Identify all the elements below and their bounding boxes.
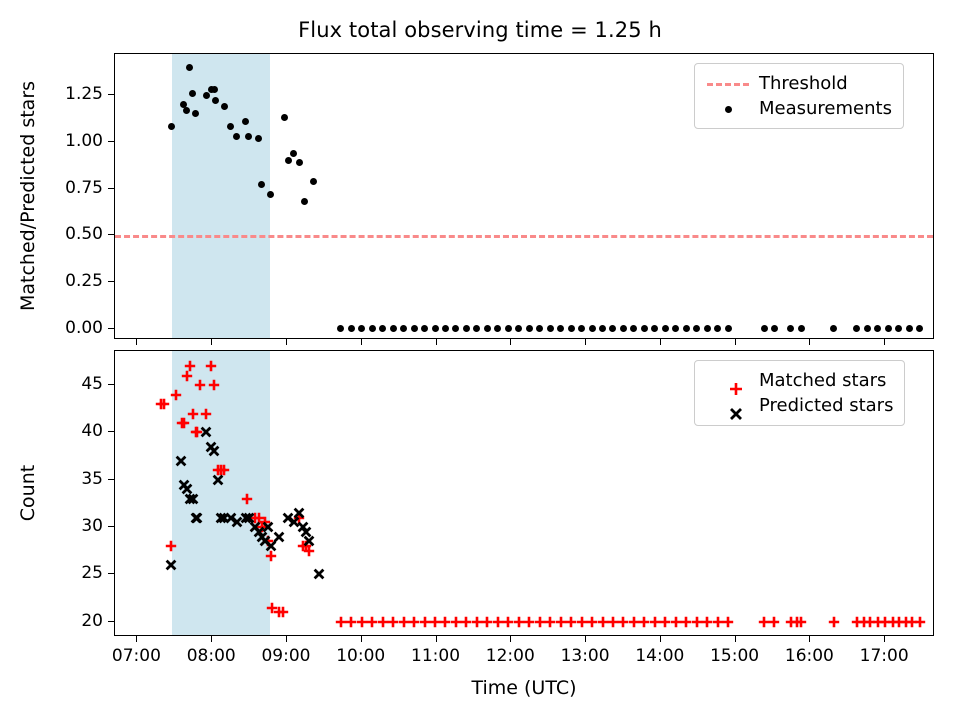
legend-item-matched-stars[interactable]: Matched stars: [704, 368, 893, 393]
x-tick-mark: [211, 636, 212, 642]
data-point-measurement: [379, 325, 386, 332]
y-tick-label: 1.25: [65, 84, 103, 104]
x-tick-mark: [286, 339, 287, 345]
data-point-measurement: [358, 325, 365, 332]
chart-title: Flux total observing time = 1.25 h: [0, 18, 960, 42]
x-tick-mark: [436, 636, 437, 642]
y-tick-label: 35: [81, 469, 103, 489]
x-tick-mark: [510, 339, 511, 345]
data-point-measurement: [211, 86, 218, 93]
data-point-measurement: [589, 325, 596, 332]
data-point-measurement: [662, 325, 669, 332]
data-point-measurement: [290, 150, 297, 157]
data-point-measurement: [641, 325, 648, 332]
observing-window-shading: [172, 54, 269, 338]
x-tick-mark: [286, 636, 287, 642]
y-tick-label: 25: [81, 563, 103, 583]
data-point-measurement: [505, 325, 512, 332]
x-tick-mark: [809, 636, 810, 642]
data-point-measurement: [301, 198, 308, 205]
x-tick-label: 07:00: [112, 646, 161, 666]
data-point-measurement: [526, 325, 533, 332]
y-tick-label: 0.75: [65, 178, 103, 198]
data-point-measurement: [494, 325, 501, 332]
y-tick-label: 20: [81, 611, 103, 631]
data-point-measurement: [186, 64, 193, 71]
data-point-measurement: [348, 325, 355, 332]
x-tick-label: 17:00: [860, 646, 909, 666]
plus-marker-icon: [704, 370, 752, 392]
x-tick-mark: [436, 339, 437, 345]
dashed-line-icon: [704, 73, 752, 95]
data-point-measurement: [620, 325, 627, 332]
data-point-measurement: [255, 135, 262, 142]
data-point-measurement: [411, 325, 418, 332]
data-point-measurement: [651, 325, 658, 332]
x-tick-mark: [809, 339, 810, 345]
data-point-measurement: [557, 325, 564, 332]
data-point-measurement: [515, 325, 522, 332]
legend-count[interactable]: Matched stars Predicted stars: [694, 360, 905, 426]
data-point-measurement: [672, 325, 679, 332]
data-point-measurement: [714, 325, 721, 332]
data-point-measurement: [463, 325, 470, 332]
y-tick-label: 30: [81, 516, 103, 536]
y-tick-label: 0.25: [65, 271, 103, 291]
y-axis-label-bottom: Count: [17, 465, 39, 521]
y-tick-label: 40: [81, 421, 103, 441]
x-tick-label: 15:00: [710, 646, 759, 666]
cross-marker-icon: [704, 395, 752, 417]
figure-canvas: Flux total observing time = 1.25 h Match…: [0, 0, 960, 720]
data-point-measurement: [787, 325, 794, 332]
x-tick-mark: [361, 339, 362, 345]
data-point-measurement: [189, 90, 196, 97]
legend-item-predicted-stars[interactable]: Predicted stars: [704, 393, 893, 418]
data-point-measurement: [798, 325, 805, 332]
x-tick-mark: [585, 339, 586, 345]
data-point-measurement: [390, 325, 397, 332]
data-point-measurement: [337, 325, 344, 332]
x-axis-label: Time (UTC): [114, 677, 934, 699]
data-point-measurement: [630, 325, 637, 332]
x-tick-mark: [585, 636, 586, 642]
data-point-measurement: [599, 325, 606, 332]
legend-label-predicted-stars: Predicted stars: [752, 395, 893, 416]
x-tick-mark: [361, 636, 362, 642]
data-point-measurement: [536, 325, 543, 332]
data-point-measurement: [906, 325, 913, 332]
x-tick-label: 12:00: [486, 646, 535, 666]
x-tick-mark: [660, 636, 661, 642]
data-point-measurement: [725, 325, 732, 332]
legend-item-measurements[interactable]: Measurements: [704, 96, 892, 121]
data-point-measurement: [421, 325, 428, 332]
data-point-measurement: [683, 325, 690, 332]
y-tick-label: 0.50: [65, 224, 103, 244]
dot-marker-icon: [704, 98, 752, 120]
x-tick-mark: [136, 636, 137, 642]
data-point-measurement: [704, 325, 711, 332]
legend-ratio[interactable]: Threshold Measurements: [694, 63, 904, 129]
data-point-measurement: [693, 325, 700, 332]
x-tick-label: 08:00: [187, 646, 236, 666]
data-point-measurement: [895, 325, 902, 332]
data-point-measurement: [442, 325, 449, 332]
data-point-measurement: [285, 157, 292, 164]
legend-item-threshold[interactable]: Threshold: [704, 71, 892, 96]
data-point-measurement: [568, 325, 575, 332]
data-point-measurement: [830, 325, 837, 332]
x-tick-mark: [884, 339, 885, 345]
legend-label-matched-stars: Matched stars: [752, 370, 886, 391]
y-tick-label: 0.00: [65, 318, 103, 338]
data-point-measurement: [432, 325, 439, 332]
legend-label-threshold: Threshold: [752, 73, 848, 94]
data-point-measurement: [267, 191, 274, 198]
data-point-measurement: [864, 325, 871, 332]
y-tick-label: 45: [81, 374, 103, 394]
data-point-measurement: [547, 325, 554, 332]
x-tick-label: 11:00: [411, 646, 460, 666]
data-point-measurement: [281, 114, 288, 121]
data-point-measurement: [183, 107, 190, 114]
data-point-measurement: [310, 178, 317, 185]
x-tick-label: 09:00: [261, 646, 310, 666]
data-point-measurement: [369, 325, 376, 332]
data-point-measurement: [853, 325, 860, 332]
x-tick-mark: [510, 636, 511, 642]
data-point-measurement: [221, 103, 228, 110]
data-point-measurement: [578, 325, 585, 332]
x-tick-label: 10:00: [336, 646, 385, 666]
data-point-measurement: [885, 325, 892, 332]
legend-label-measurements: Measurements: [752, 98, 892, 119]
data-point-measurement: [761, 325, 768, 332]
data-point-measurement: [296, 159, 303, 166]
data-point-measurement: [400, 325, 407, 332]
x-tick-label: 16:00: [785, 646, 834, 666]
data-point-measurement: [916, 325, 923, 332]
data-point-measurement: [484, 325, 491, 332]
x-tick-mark: [136, 339, 137, 345]
y-axis-label-top: Matched/Predicted stars: [17, 81, 39, 311]
data-point-measurement: [452, 325, 459, 332]
data-point-measurement: [203, 92, 210, 99]
threshold-line: [115, 235, 933, 238]
x-tick-mark: [660, 339, 661, 345]
y-tick-label: 1.00: [65, 131, 103, 151]
data-point-measurement: [473, 325, 480, 332]
x-tick-mark: [735, 339, 736, 345]
x-tick-mark: [884, 636, 885, 642]
data-point-measurement: [609, 325, 616, 332]
x-tick-label: 14:00: [635, 646, 684, 666]
x-tick-mark: [735, 636, 736, 642]
data-point-measurement: [771, 325, 778, 332]
data-point-measurement: [874, 325, 881, 332]
data-point-measurement: [168, 123, 175, 130]
x-tick-mark: [211, 339, 212, 345]
x-tick-label: 13:00: [561, 646, 610, 666]
